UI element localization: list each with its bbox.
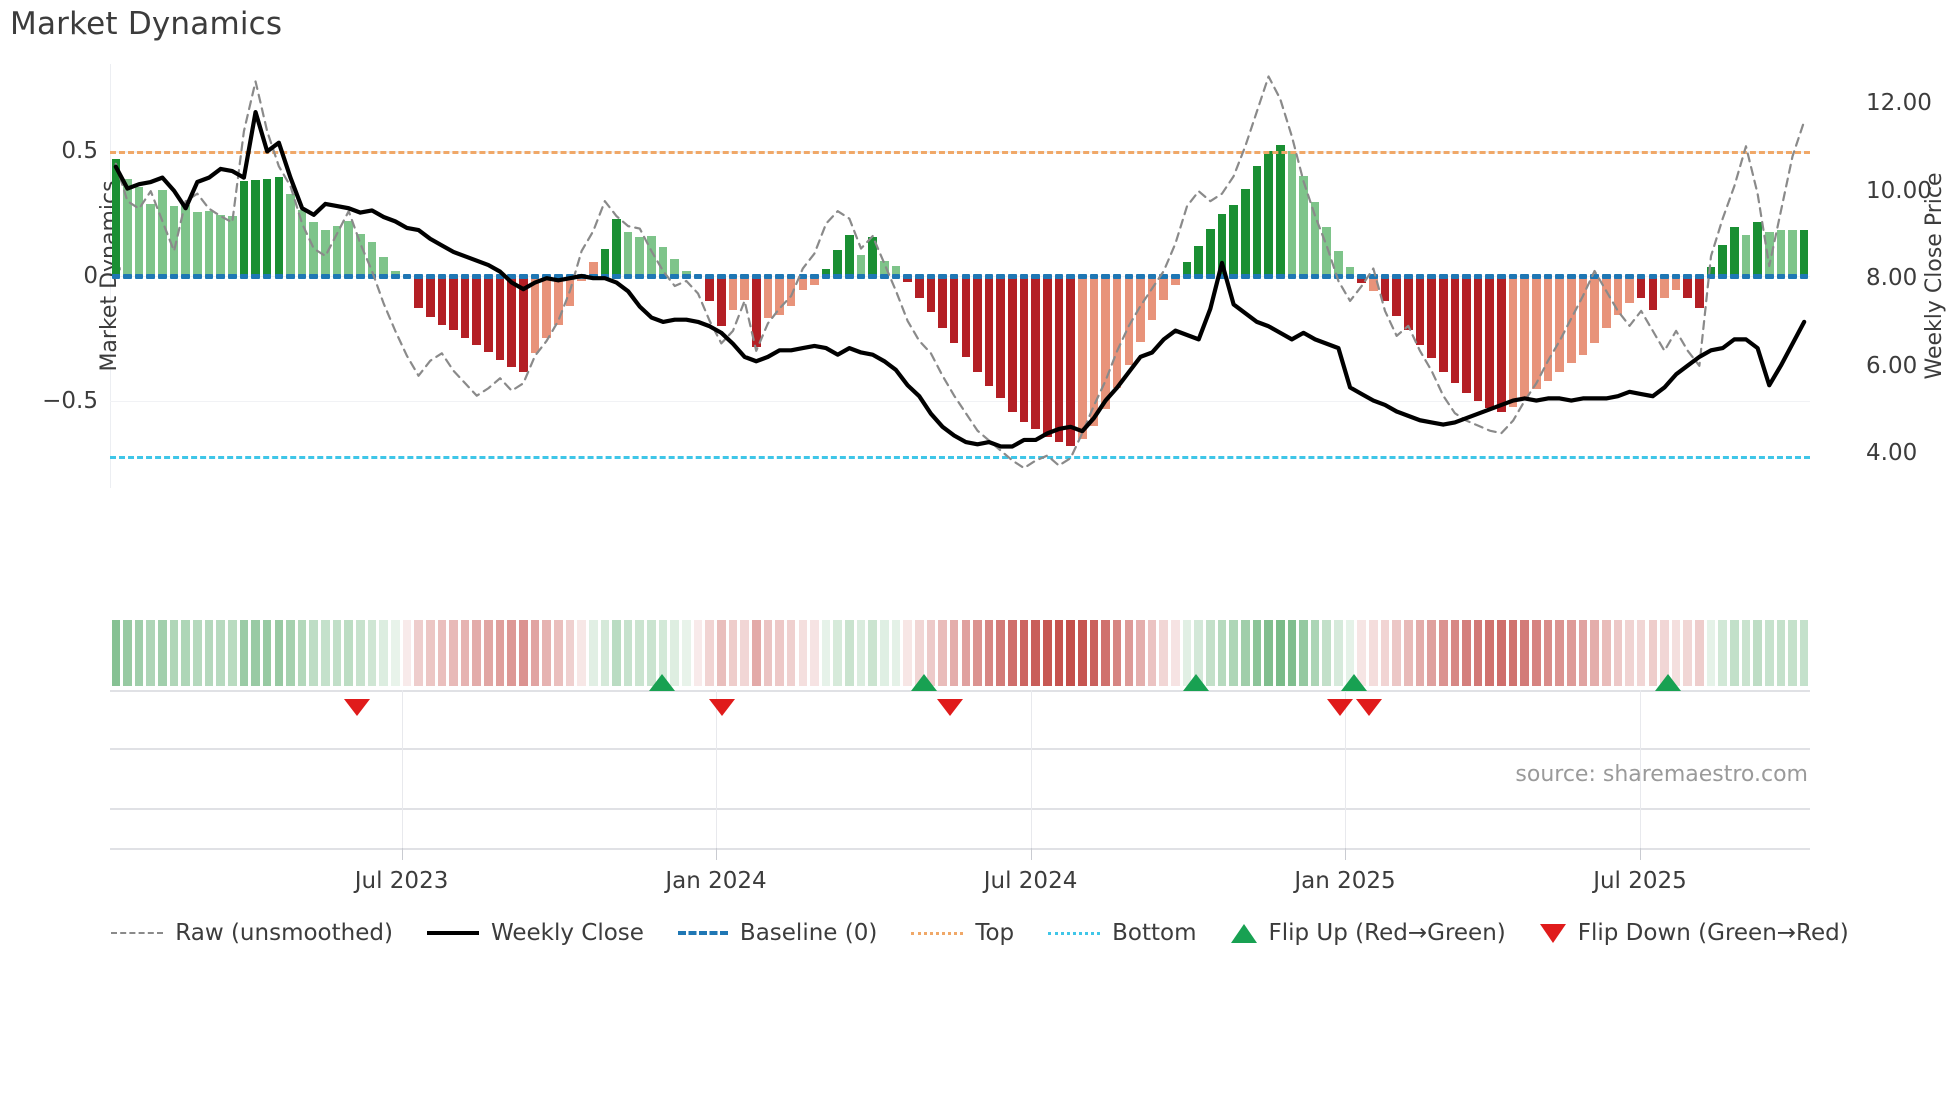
- heatmap-cell: [1218, 620, 1227, 686]
- line-series-layer: [110, 64, 1810, 488]
- heatmap-cell: [181, 620, 190, 686]
- right-y-tick-label: 6.00: [1866, 353, 1917, 379]
- heatmap-cell: [158, 620, 167, 686]
- page-title: Market Dynamics: [10, 6, 282, 42]
- source-caption: source: sharemaestro.com: [1515, 762, 1808, 787]
- x-tick-mark: [402, 848, 403, 860]
- heatmap-cell: [857, 620, 866, 686]
- legend-item[interactable]: Flip Down (Green→Red): [1540, 920, 1849, 946]
- right-y-tick-label: 12.00: [1866, 90, 1932, 116]
- heatmap-cell: [275, 620, 284, 686]
- x-tick-label: Jul 2025: [1593, 868, 1687, 894]
- heatmap-cell: [449, 620, 458, 686]
- left-y-tick-label: −0.5: [42, 388, 98, 414]
- heatmap-cell: [1381, 620, 1390, 686]
- heatmap-cell: [1427, 620, 1436, 686]
- heatmap-cell: [1730, 620, 1739, 686]
- solid-black-line-icon: [427, 931, 479, 935]
- legend-item[interactable]: Top: [911, 920, 1014, 946]
- heatmap-cell: [1567, 620, 1576, 686]
- right-y-tick-label: 10.00: [1866, 178, 1932, 204]
- flip-up-marker[interactable]: [1341, 674, 1367, 691]
- heatmap-cell: [1637, 620, 1646, 686]
- heatmap-cell: [1509, 620, 1518, 686]
- flip-panel-gridline: [110, 808, 1810, 810]
- legend-label: Weekly Close: [491, 920, 644, 946]
- legend-item[interactable]: Raw (unsmoothed): [111, 920, 393, 946]
- heatmap-cell: [1136, 620, 1145, 686]
- heatmap-cell: [228, 620, 237, 686]
- legend-label: Flip Up (Red→Green): [1269, 920, 1506, 946]
- heatmap-cell: [1753, 620, 1762, 686]
- left-y-tick-label: 0.5: [61, 138, 98, 164]
- chart-root: Market Dynamics Market Dynamics Weekly C…: [0, 0, 1960, 1102]
- dashed-gray-line-icon: [111, 932, 163, 934]
- x-tick-mark: [1640, 848, 1641, 860]
- heatmap-cell: [1043, 620, 1052, 686]
- heatmap-cell: [1602, 620, 1611, 686]
- x-tick-mark: [716, 848, 717, 860]
- heatmap-cell: [170, 620, 179, 686]
- heatmap-cell: [240, 620, 249, 686]
- heatmap-cell: [1008, 620, 1017, 686]
- heatmap-cell: [1229, 620, 1238, 686]
- heatmap-cell: [612, 620, 621, 686]
- heatmap-cell: [868, 620, 877, 686]
- heatmap-cell: [123, 620, 132, 686]
- main-plot-area: Market Dynamics Weekly Close Price 0.50−…: [110, 64, 1810, 488]
- heatmap-cell: [624, 620, 633, 686]
- heatmap-cell: [1544, 620, 1553, 686]
- heatmap-cell: [775, 620, 784, 686]
- x-tick-label: Jul 2023: [355, 868, 449, 894]
- heatmap-cell: [507, 620, 516, 686]
- heatmap-cell: [135, 620, 144, 686]
- heatmap-cell: [193, 620, 202, 686]
- heatmap-cell: [996, 620, 1005, 686]
- heatmap-cell: [799, 620, 808, 686]
- heatmap-cell: [1777, 620, 1786, 686]
- heatmap-cell: [1788, 620, 1797, 686]
- flip-panel-gridline: [110, 848, 1810, 850]
- heatmap-cell: [216, 620, 225, 686]
- x-tick-label: Jan 2024: [665, 868, 766, 894]
- flip-down-marker[interactable]: [709, 699, 735, 716]
- legend-label: Raw (unsmoothed): [175, 920, 393, 946]
- flip-panel-gridline: [110, 748, 1810, 750]
- heatmap-cell: [880, 620, 889, 686]
- heatmap-cell: [1369, 620, 1378, 686]
- heatmap-cell: [321, 620, 330, 686]
- flip-down-marker[interactable]: [344, 699, 370, 716]
- heatmap-cell: [426, 620, 435, 686]
- heatmap-cell: [1416, 620, 1425, 686]
- heatmap-cell: [461, 620, 470, 686]
- heatmap-cell: [1101, 620, 1110, 686]
- heatmap-cell: [1159, 620, 1168, 686]
- heatmap-cell: [1090, 620, 1099, 686]
- heatmap-cell: [1532, 620, 1541, 686]
- heatmap-cell: [1579, 620, 1588, 686]
- x-axis-vertical-gridline: [402, 690, 403, 848]
- heatmap-cell: [1392, 620, 1401, 686]
- heatmap-cell: [554, 620, 563, 686]
- legend-item[interactable]: Bottom: [1048, 920, 1196, 946]
- heatmap-cell: [438, 620, 447, 686]
- heatmap-cell: [717, 620, 726, 686]
- heatmap-cell: [892, 620, 901, 686]
- heatmap-cell: [1241, 620, 1250, 686]
- heatmap-cell: [962, 620, 971, 686]
- dotted-cyan-line-icon: [1048, 932, 1100, 935]
- heatmap-cell: [810, 620, 819, 686]
- heatmap-cell: [577, 620, 586, 686]
- heatmap-cell: [484, 620, 493, 686]
- heatmap-cell: [1497, 620, 1506, 686]
- heatmap-cell: [1020, 620, 1029, 686]
- heatmap-cell: [1311, 620, 1320, 686]
- heatmap-cell: [1462, 620, 1471, 686]
- legend-item[interactable]: Weekly Close: [427, 920, 644, 946]
- raw-unsmoothed-line: [116, 76, 1804, 468]
- heatmap-cell: [286, 620, 295, 686]
- x-tick-label: Jul 2024: [984, 868, 1078, 894]
- heatmap-cell: [1800, 620, 1809, 686]
- heatmap-cell: [1474, 620, 1483, 686]
- x-tick-mark: [1031, 848, 1032, 860]
- green-up-triangle-icon: [1231, 924, 1257, 943]
- heatmap-cell: [635, 620, 644, 686]
- legend-label: Bottom: [1112, 920, 1196, 946]
- heatmap-cell: [1171, 620, 1180, 686]
- heatmap-cell: [205, 620, 214, 686]
- heatmap-cell: [472, 620, 481, 686]
- heatmap-cell: [1066, 620, 1075, 686]
- flip-up-marker[interactable]: [1183, 674, 1209, 691]
- heatmap-cell: [938, 620, 947, 686]
- heatmap-cell: [1299, 620, 1308, 686]
- legend-item[interactable]: Flip Up (Red→Green): [1231, 920, 1506, 946]
- heatmap-cell: [1078, 620, 1087, 686]
- dotted-orange-line-icon: [911, 932, 963, 935]
- heatmap-cell: [694, 620, 703, 686]
- heatmap-cell: [1707, 620, 1716, 686]
- legend-label: Top: [975, 920, 1014, 946]
- heatmap-cell: [414, 620, 423, 686]
- heatmap-cell: [519, 620, 528, 686]
- flip-up-marker[interactable]: [911, 674, 937, 691]
- heatmap-cell: [1683, 620, 1692, 686]
- dashed-blue-line-icon: [678, 931, 728, 935]
- heatmap-cell: [601, 620, 610, 686]
- right-y-tick-label: 4.00: [1866, 440, 1917, 466]
- heatmap-cell: [729, 620, 738, 686]
- heatmap-cell: [263, 620, 272, 686]
- heatmap-cell: [705, 620, 714, 686]
- heatmap-cell: [309, 620, 318, 686]
- right-y-tick-label: 8.00: [1866, 265, 1917, 291]
- heatmap-cell: [1625, 620, 1634, 686]
- heatmap-cell: [985, 620, 994, 686]
- heatmap-cell: [542, 620, 551, 686]
- heatmap-cell: [1148, 620, 1157, 686]
- heatmap-cell: [1322, 620, 1331, 686]
- heatmap-cell: [1765, 620, 1774, 686]
- heatmap-cell: [950, 620, 959, 686]
- legend-label: Baseline (0): [740, 920, 877, 946]
- heatmap-cell: [764, 620, 773, 686]
- heatmap-cell: [845, 620, 854, 686]
- heatmap-cell: [589, 620, 598, 686]
- heatmap-cell: [146, 620, 155, 686]
- weekly-close-line: [116, 112, 1804, 446]
- heatmap-cell: [251, 620, 260, 686]
- heatmap-cell: [1718, 620, 1727, 686]
- heatmap-cell: [298, 620, 307, 686]
- heatmap-cell: [1404, 620, 1413, 686]
- heatmap-cell: [112, 620, 121, 686]
- state-heatmap-strip: [110, 620, 1810, 686]
- heatmap-cell: [1288, 620, 1297, 686]
- chart-legend: Raw (unsmoothed)Weekly CloseBaseline (0)…: [0, 920, 1960, 946]
- heatmap-cell: [1276, 620, 1285, 686]
- red-down-triangle-icon: [1540, 924, 1566, 943]
- heatmap-cell: [1055, 620, 1064, 686]
- flip-down-marker[interactable]: [937, 699, 963, 716]
- heatmap-cell: [822, 620, 831, 686]
- heatmap-cell: [682, 620, 691, 686]
- heatmap-cell: [1439, 620, 1448, 686]
- heatmap-cell: [496, 620, 505, 686]
- heatmap-cell: [379, 620, 388, 686]
- heatmap-cell: [391, 620, 400, 686]
- flip-panel-gridline: [110, 690, 1810, 692]
- left-y-tick-label: 0: [83, 263, 98, 289]
- x-tick-mark: [1345, 848, 1346, 860]
- heatmap-cell: [403, 620, 412, 686]
- heatmap-cell: [1614, 620, 1623, 686]
- legend-item[interactable]: Baseline (0): [678, 920, 877, 946]
- heatmap-cell: [1742, 620, 1751, 686]
- heatmap-cell: [1485, 620, 1494, 686]
- flip-up-marker[interactable]: [1655, 674, 1681, 691]
- heatmap-cell: [356, 620, 365, 686]
- heatmap-cell: [1264, 620, 1273, 686]
- flip-down-marker[interactable]: [1356, 699, 1382, 716]
- heatmap-cell: [1125, 620, 1134, 686]
- heatmap-cell: [531, 620, 540, 686]
- heatmap-cell: [787, 620, 796, 686]
- heatmap-cell: [752, 620, 761, 686]
- heatmap-cell: [1253, 620, 1262, 686]
- heatmap-cell: [368, 620, 377, 686]
- legend-label: Flip Down (Green→Red): [1578, 920, 1849, 946]
- heatmap-cell: [344, 620, 353, 686]
- heatmap-cell: [1451, 620, 1460, 686]
- heatmap-cell: [1695, 620, 1704, 686]
- flip-up-marker[interactable]: [649, 674, 675, 691]
- heatmap-cell: [1113, 620, 1122, 686]
- flip-down-marker[interactable]: [1327, 699, 1353, 716]
- heatmap-cell: [566, 620, 575, 686]
- x-tick-label: Jan 2025: [1294, 868, 1395, 894]
- heatmap-cell: [833, 620, 842, 686]
- heatmap-cell: [1520, 620, 1529, 686]
- heatmap-cell: [740, 620, 749, 686]
- heatmap-cell: [1031, 620, 1040, 686]
- heatmap-cell: [1590, 620, 1599, 686]
- heatmap-cell: [333, 620, 342, 686]
- x-axis-vertical-gridline: [1031, 690, 1032, 848]
- heatmap-cell: [973, 620, 982, 686]
- heatmap-cell: [1555, 620, 1564, 686]
